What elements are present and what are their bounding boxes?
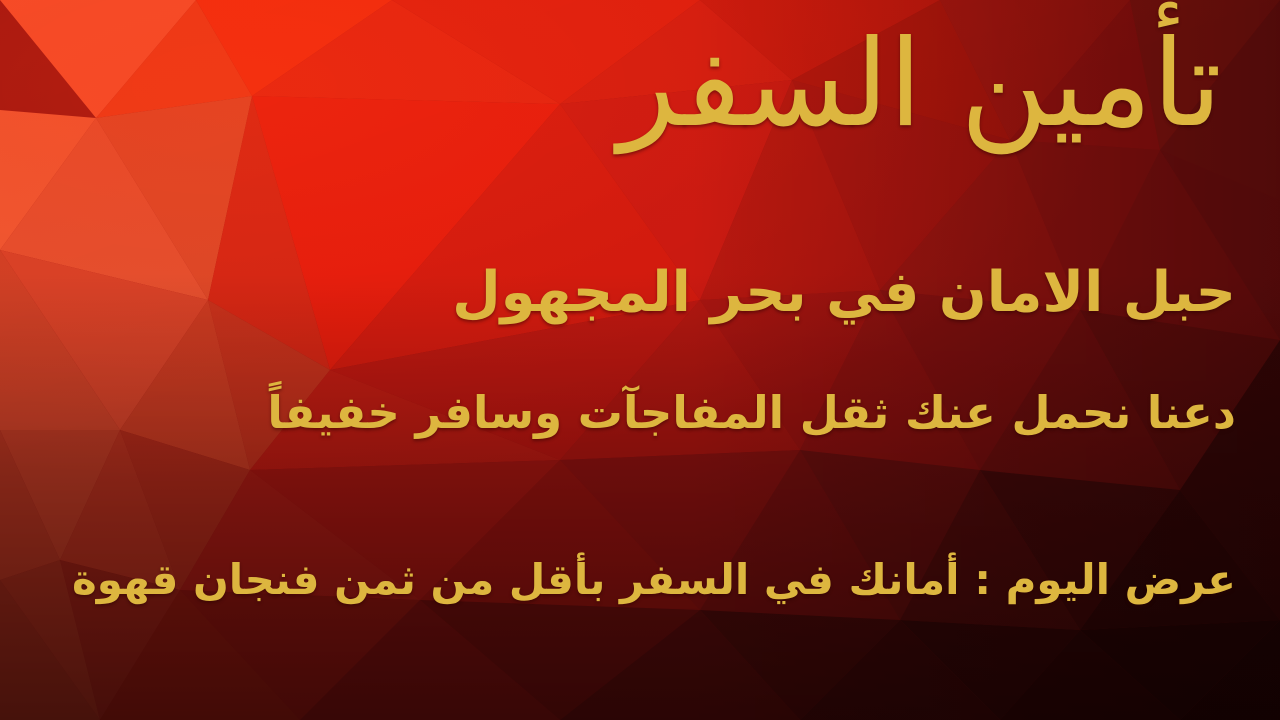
slide-content: تأمين السفر حبل الامان في بحر المجهول دع… xyxy=(0,0,1280,720)
slide-offer-text: عرض اليوم : أمانك في السفر بأقل من ثمن ف… xyxy=(72,558,1236,602)
page-title: تأمين السفر xyxy=(618,22,1222,148)
promo-slide: تأمين السفر حبل الامان في بحر المجهول دع… xyxy=(0,0,1280,720)
slide-tagline: دعنا نحمل عنك ثقل المفاجآت وسافر خفيفاً xyxy=(267,389,1236,436)
slide-subtitle: حبل الامان في بحر المجهول xyxy=(452,264,1236,323)
